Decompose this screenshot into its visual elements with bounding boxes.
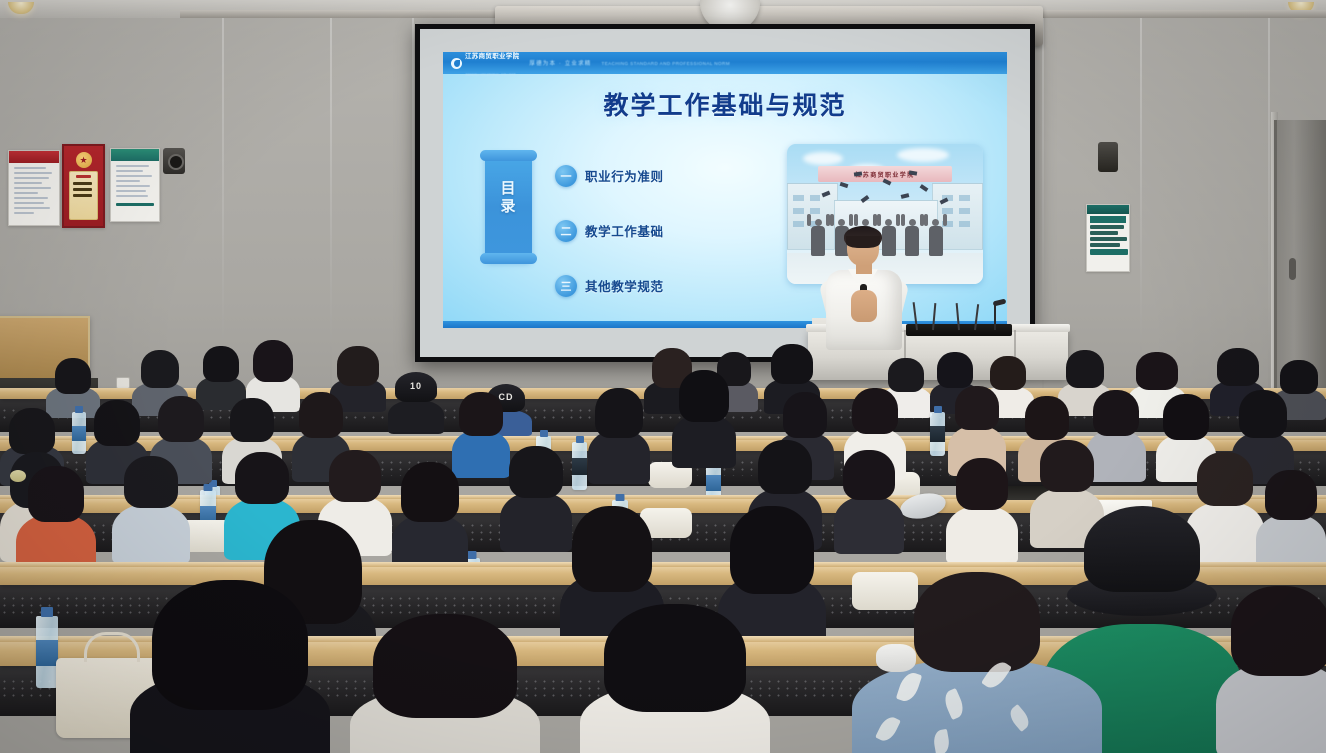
audience-member: [1256, 470, 1326, 570]
poster-header: [111, 149, 159, 161]
photo-graduate: [928, 219, 943, 256]
wall-panel-seam: [1268, 0, 1270, 430]
presenter-hair: [844, 226, 882, 248]
presenter-hands: [851, 290, 877, 322]
audience-member: [946, 458, 1018, 562]
wall-speaker-mount: [1098, 142, 1118, 172]
logo-mark-icon: [451, 58, 462, 69]
poster-header: [9, 151, 59, 163]
toc-number-icon: 三: [555, 275, 577, 297]
water-bottle: [930, 412, 945, 456]
slide-header-bar: 江苏商贸职业学院 JIANGSU VOCATIONAL COLLEGE 厚德为本…: [443, 52, 1007, 74]
desk-edge: [0, 495, 1326, 499]
toc-item-label: 教学工作基础: [585, 221, 664, 240]
wall-information-sign: [1086, 204, 1130, 272]
toc-number-icon: 一: [555, 165, 577, 187]
roller-rail-right: [1040, 10, 1326, 18]
emblem-icon: [76, 152, 92, 168]
slide-motto-cn: 厚德为本 · 立业求精: [529, 59, 591, 67]
wall-camera-icon: [163, 148, 185, 174]
water-bottle: [36, 616, 58, 688]
poster-body: [111, 161, 159, 213]
audience-member-foreground: [350, 614, 540, 753]
audience-member: [588, 388, 650, 482]
toc-item[interactable]: 三 其他教学规范: [555, 258, 705, 313]
audience-member-foreground: [130, 580, 330, 753]
audience-member: [834, 450, 904, 550]
presentation-slide: 江苏商贸职业学院 JIANGSU VOCATIONAL COLLEGE 厚德为本…: [443, 52, 1007, 328]
poster-body: [64, 146, 103, 226]
audience-member: [392, 462, 468, 574]
toc-item[interactable]: 二 教学工作基础: [555, 203, 705, 258]
slide-motto-en: TEACHING STANDARD AND PROFESSIONAL NORM: [602, 61, 730, 66]
lecture-hall-photo: 江苏商贸职业学院 JIANGSU VOCATIONAL COLLEGE 厚德为本…: [0, 0, 1326, 753]
toc-item[interactable]: 一 职业行为准则: [555, 148, 705, 203]
logo-subtext: JIANGSU VOCATIONAL COLLEGE: [465, 73, 516, 77]
audience-member: [112, 456, 190, 562]
audience-member: [672, 370, 736, 466]
face-mask: [876, 644, 916, 672]
wall-panel-seam: [412, 0, 414, 430]
audience-member-foreground: [580, 604, 770, 753]
photo-banner-text: 江苏商贸职业学院: [855, 170, 914, 179]
toc-scroll-banner: 目录: [485, 152, 532, 262]
water-bottle: [72, 412, 86, 454]
presenter: [818, 228, 910, 348]
audience-member: [16, 466, 96, 576]
wall-poster-notice: [8, 150, 60, 226]
toc-label: 目录: [485, 180, 532, 215]
wall-poster-emblem: [62, 144, 105, 228]
projection-screen: 江苏商贸职业学院 JIANGSU VOCATIONAL COLLEGE 厚德为本…: [415, 24, 1035, 362]
logo-text: 江苏商贸职业学院: [465, 53, 519, 60]
audience-member-foreground: [1216, 586, 1326, 753]
toc-list: 一 职业行为准则 二 教学工作基础 三 其他教学规范: [555, 148, 705, 313]
toc-item-label: 其他教学规范: [585, 276, 664, 295]
toc-number-icon: 二: [555, 220, 577, 242]
roller-rail-left: [180, 10, 498, 18]
cap-logo: 10: [410, 381, 422, 391]
slide-title: 教学工作基础与规范: [443, 86, 1007, 122]
toc-item-label: 职业行为准则: [585, 166, 664, 185]
poster-body: [9, 163, 59, 221]
gooseneck-microphone: [994, 304, 996, 330]
sign-header: [1087, 205, 1129, 214]
audience-member: 10: [388, 372, 444, 432]
college-logo: 江苏商贸职业学院 JIANGSU VOCATIONAL COLLEGE: [451, 52, 519, 81]
door-handle[interactable]: [1289, 258, 1296, 280]
water-bottle: [572, 442, 587, 490]
poster-gold-card: [69, 171, 98, 220]
wall-poster-green: [110, 148, 160, 222]
sign-subheader: [1090, 216, 1126, 223]
